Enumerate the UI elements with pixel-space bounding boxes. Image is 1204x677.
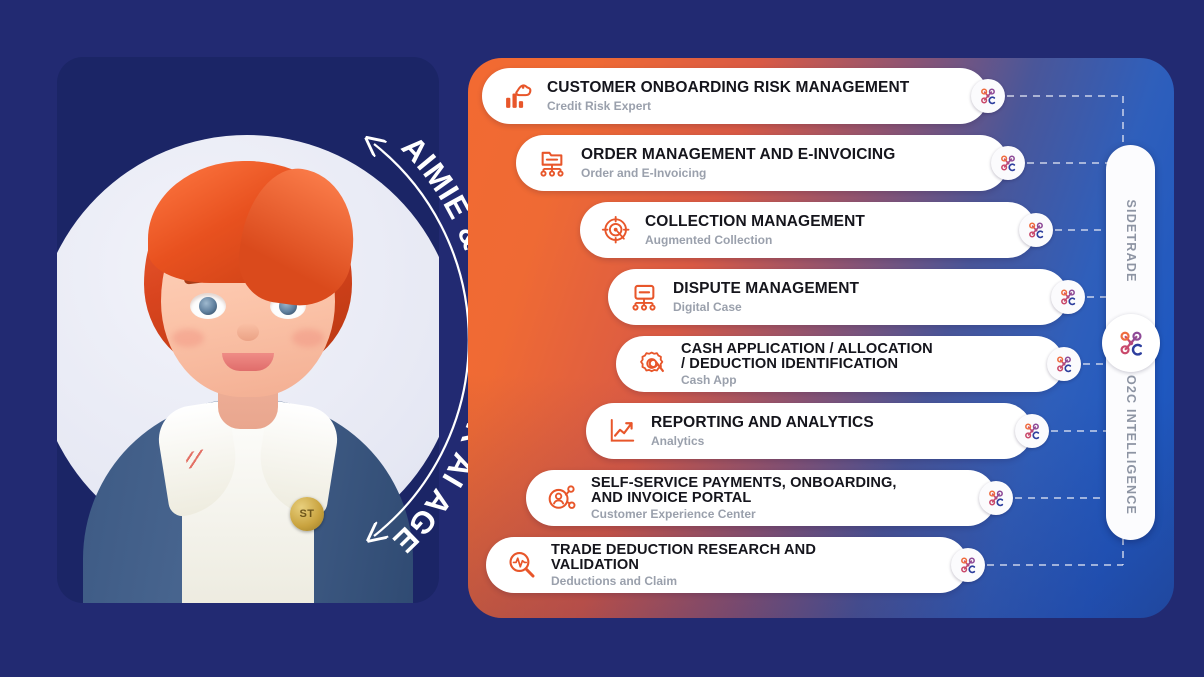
agent-card-subtitle: Cash App [681, 374, 933, 386]
agent-card-text: SELF-SERVICE PAYMENTS, ONBOARDING, AND I… [591, 476, 897, 520]
agent-card-title: DISPUTE MANAGEMENT [673, 281, 859, 297]
agent-node-badge[interactable] [1047, 347, 1081, 381]
agent-card-subtitle: Credit Risk Expert [547, 100, 909, 112]
agent-card-text: CUSTOMER ONBOARDING RISK MANAGEMENTCredi… [547, 80, 909, 111]
sidetrade-node-icon [1025, 219, 1047, 241]
sidetrade-network-logo-icon [1114, 326, 1148, 360]
target-icon [596, 210, 636, 250]
sidetrade-node-icon [997, 152, 1019, 174]
agent-node-badge[interactable] [979, 481, 1013, 515]
agent-card[interactable]: REPORTING AND ANALYTICSAnalytics [586, 403, 1032, 459]
agent-card-title: SELF-SERVICE PAYMENTS, ONBOARDING, AND I… [591, 476, 897, 506]
sidetrade-node-icon [957, 554, 979, 576]
trend-chart-icon [602, 411, 642, 451]
agent-card[interactable]: CUSTOMER ONBOARDING RISK MANAGEMENTCredi… [482, 68, 988, 124]
agent-node-badge[interactable] [951, 548, 985, 582]
dispute-hierarchy-icon [624, 277, 664, 317]
nose [237, 323, 259, 341]
gear-wrench-icon [632, 344, 672, 384]
aimie-character-illustration: ST [57, 57, 439, 603]
agent-card-title: ORDER MANAGEMENT AND E-INVOICING [581, 147, 895, 163]
agent-card-subtitle: Digital Case [673, 301, 859, 313]
agent-card[interactable]: ORDER MANAGEMENT AND E-INVOICINGOrder an… [516, 135, 1008, 191]
sidetrade-o2c-spine: SIDETRADE O2C INTELLIGENCE [1106, 145, 1155, 540]
agent-node-badge[interactable] [1051, 280, 1085, 314]
order-hierarchy-icon [532, 143, 572, 183]
iris-left [199, 297, 217, 315]
agent-card-subtitle: Augmented Collection [645, 234, 865, 246]
sidetrade-node-icon [1021, 420, 1043, 442]
agent-card-list: CUSTOMER ONBOARDING RISK MANAGEMENTCredi… [468, 58, 1174, 618]
agent-card[interactable]: CASH APPLICATION / ALLOCATION / DEDUCTIO… [616, 336, 1064, 392]
agent-node-badge[interactable] [1015, 414, 1049, 448]
bar-chart-risk-icon [498, 76, 538, 116]
agent-card-title: CUSTOMER ONBOARDING RISK MANAGEMENT [547, 80, 909, 96]
agent-card-text: TRADE DEDUCTION RESEARCH AND VALIDATIOND… [551, 543, 816, 587]
sidetrade-node-icon [985, 487, 1007, 509]
agent-card-text: REPORTING AND ANALYTICSAnalytics [651, 415, 874, 446]
agent-card-text: DISPUTE MANAGEMENTDigital Case [673, 281, 859, 312]
agent-node-badge[interactable] [991, 146, 1025, 180]
agent-card[interactable]: SELF-SERVICE PAYMENTS, ONBOARDING, AND I… [526, 470, 996, 526]
sidetrade-node-icon [1053, 353, 1075, 375]
user-network-icon [542, 478, 582, 518]
agent-card-title: REPORTING AND ANALYTICS [651, 415, 874, 431]
agent-card-text: CASH APPLICATION / ALLOCATION / DEDUCTIO… [681, 342, 933, 386]
agent-card-title: CASH APPLICATION / ALLOCATION / DEDUCTIO… [681, 342, 933, 372]
agent-node-badge[interactable] [971, 79, 1005, 113]
agent-card-subtitle: Deductions and Claim [551, 575, 816, 587]
agent-card[interactable]: DISPUTE MANAGEMENTDigital Case [608, 269, 1068, 325]
spine-label-sidetrade: SIDETRADE [1124, 156, 1138, 326]
sidetrade-node-icon [1057, 286, 1079, 308]
agent-card-title: TRADE DEDUCTION RESEARCH AND VALIDATION [551, 543, 816, 573]
agent-card-text: ORDER MANAGEMENT AND E-INVOICINGOrder an… [581, 147, 895, 178]
spine-label-o2c: O2C INTELLIGENCE [1124, 360, 1138, 530]
magnifier-pulse-icon [502, 545, 542, 585]
st-badge-pin: ST [290, 497, 324, 531]
agent-card[interactable]: COLLECTION MANAGEMENTAugmented Collectio… [580, 202, 1036, 258]
agent-card-subtitle: Order and E-Invoicing [581, 167, 895, 179]
sidetrade-node-icon [977, 85, 999, 107]
cheek-left [172, 329, 204, 347]
agent-card-subtitle: Analytics [651, 435, 874, 447]
agent-card-text: COLLECTION MANAGEMENTAugmented Collectio… [645, 214, 865, 245]
agent-card-title: COLLECTION MANAGEMENT [645, 214, 865, 230]
cheek-right [292, 329, 324, 347]
agent-node-badge[interactable] [1019, 213, 1053, 247]
avatar-panel: ST [57, 57, 439, 603]
agent-card-subtitle: Customer Experience Center [591, 508, 897, 520]
agent-card[interactable]: TRADE DEDUCTION RESEARCH AND VALIDATIOND… [486, 537, 968, 593]
